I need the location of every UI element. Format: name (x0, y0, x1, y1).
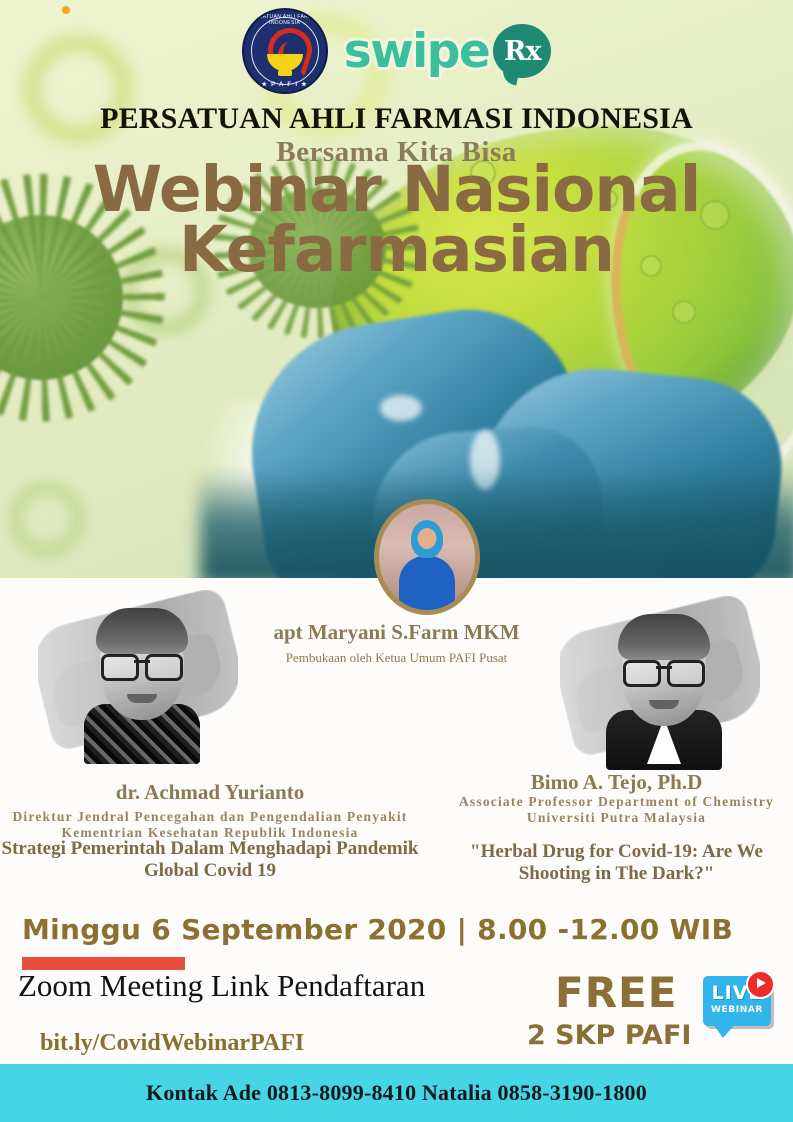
pafi-logo-icon: PERSATUAN AHLI FARMASI INDONESIA ★ P A F… (242, 8, 328, 94)
pafi-logo-bottom-text: ★ P A F I ★ (244, 81, 326, 88)
glasses-bridge (134, 660, 150, 663)
speaker-hair (618, 614, 710, 660)
contact-text: Kontak Ade 0813-8099-8410 Natalia 0858-3… (146, 1080, 647, 1106)
rx-speech-bubble-icon: Rx (493, 24, 551, 78)
webinar-label: WEBINAR (703, 1005, 771, 1015)
glove-highlight (380, 395, 422, 421)
price-free-label: FREE (555, 968, 677, 1017)
logo-row: PERSATUAN AHLI FARMASI INDONESIA ★ P A F… (0, 8, 793, 94)
speaker-right-topic: "Herbal Drug for Covid-19: Are We Shooti… (440, 841, 793, 884)
swiperx-dot-icon (62, 6, 70, 14)
play-button-icon (746, 970, 775, 999)
avatar-speaker-left (38, 590, 238, 765)
swiperx-wordmark: swipe (344, 28, 490, 75)
speaker-right-affiliation: Associate Professor Department of Chemis… (440, 794, 793, 827)
speaker-left-name: dr. Achmad Yurianto (0, 780, 420, 805)
platform-registration-label: Zoom Meeting Link Pendaftaran (18, 968, 425, 1004)
contact-bar: Kontak Ade 0813-8099-8410 Natalia 0858-3… (0, 1064, 793, 1122)
glasses-icon (101, 654, 183, 676)
speaker-right-name: Bimo A. Tejo, Ph.D (440, 770, 793, 795)
host-body (399, 556, 455, 614)
swiperx-logo: swipe Rx (344, 24, 552, 78)
host-face (418, 528, 437, 549)
organization-title: PERSATUAN AHLI FARMASI INDONESIA (0, 102, 793, 136)
skp-credits-label: 2 SKP PAFI (527, 1020, 691, 1051)
rx-label: Rx (504, 36, 541, 67)
event-datetime: Minggu 6 September 2020 | 8.00 -12.00 WI… (22, 913, 733, 946)
glasses-icon (623, 660, 705, 682)
speaker-mouth (127, 694, 157, 703)
speaker-hair (96, 608, 188, 654)
headline-line-2: Kefarmasian (0, 220, 793, 280)
webinar-poster: PERSATUAN AHLI FARMASI INDONESIA ★ P A F… (0, 0, 793, 1122)
hero-shadow-gradient (200, 470, 793, 580)
background-blur-blob (8, 480, 86, 558)
speaker-mouth (649, 700, 679, 709)
glasses-bridge (656, 666, 672, 669)
culture-bubble (672, 300, 696, 324)
speaker-left-topic: Strategi Pemerintah Dalam Menghadapi Pan… (0, 838, 420, 881)
speaker-left-affiliation: Direktur Jendral Pencegahan dan Pengenda… (0, 809, 420, 842)
avatar-speaker-right (560, 596, 760, 771)
registration-link[interactable]: bit.ly/CovidWebinarPAFI (40, 1030, 304, 1057)
pafi-logo-top-text: PERSATUAN AHLI FARMASI INDONESIA (244, 14, 326, 26)
pafi-bowl-stem (278, 70, 292, 76)
avatar-host (374, 499, 480, 615)
page-title: Webinar Nasional Kefarmasian (0, 160, 793, 280)
live-webinar-badge: LIVE WEBINAR (697, 972, 775, 1038)
speaker-right-face (604, 604, 724, 764)
speaker-left-face (82, 598, 202, 758)
